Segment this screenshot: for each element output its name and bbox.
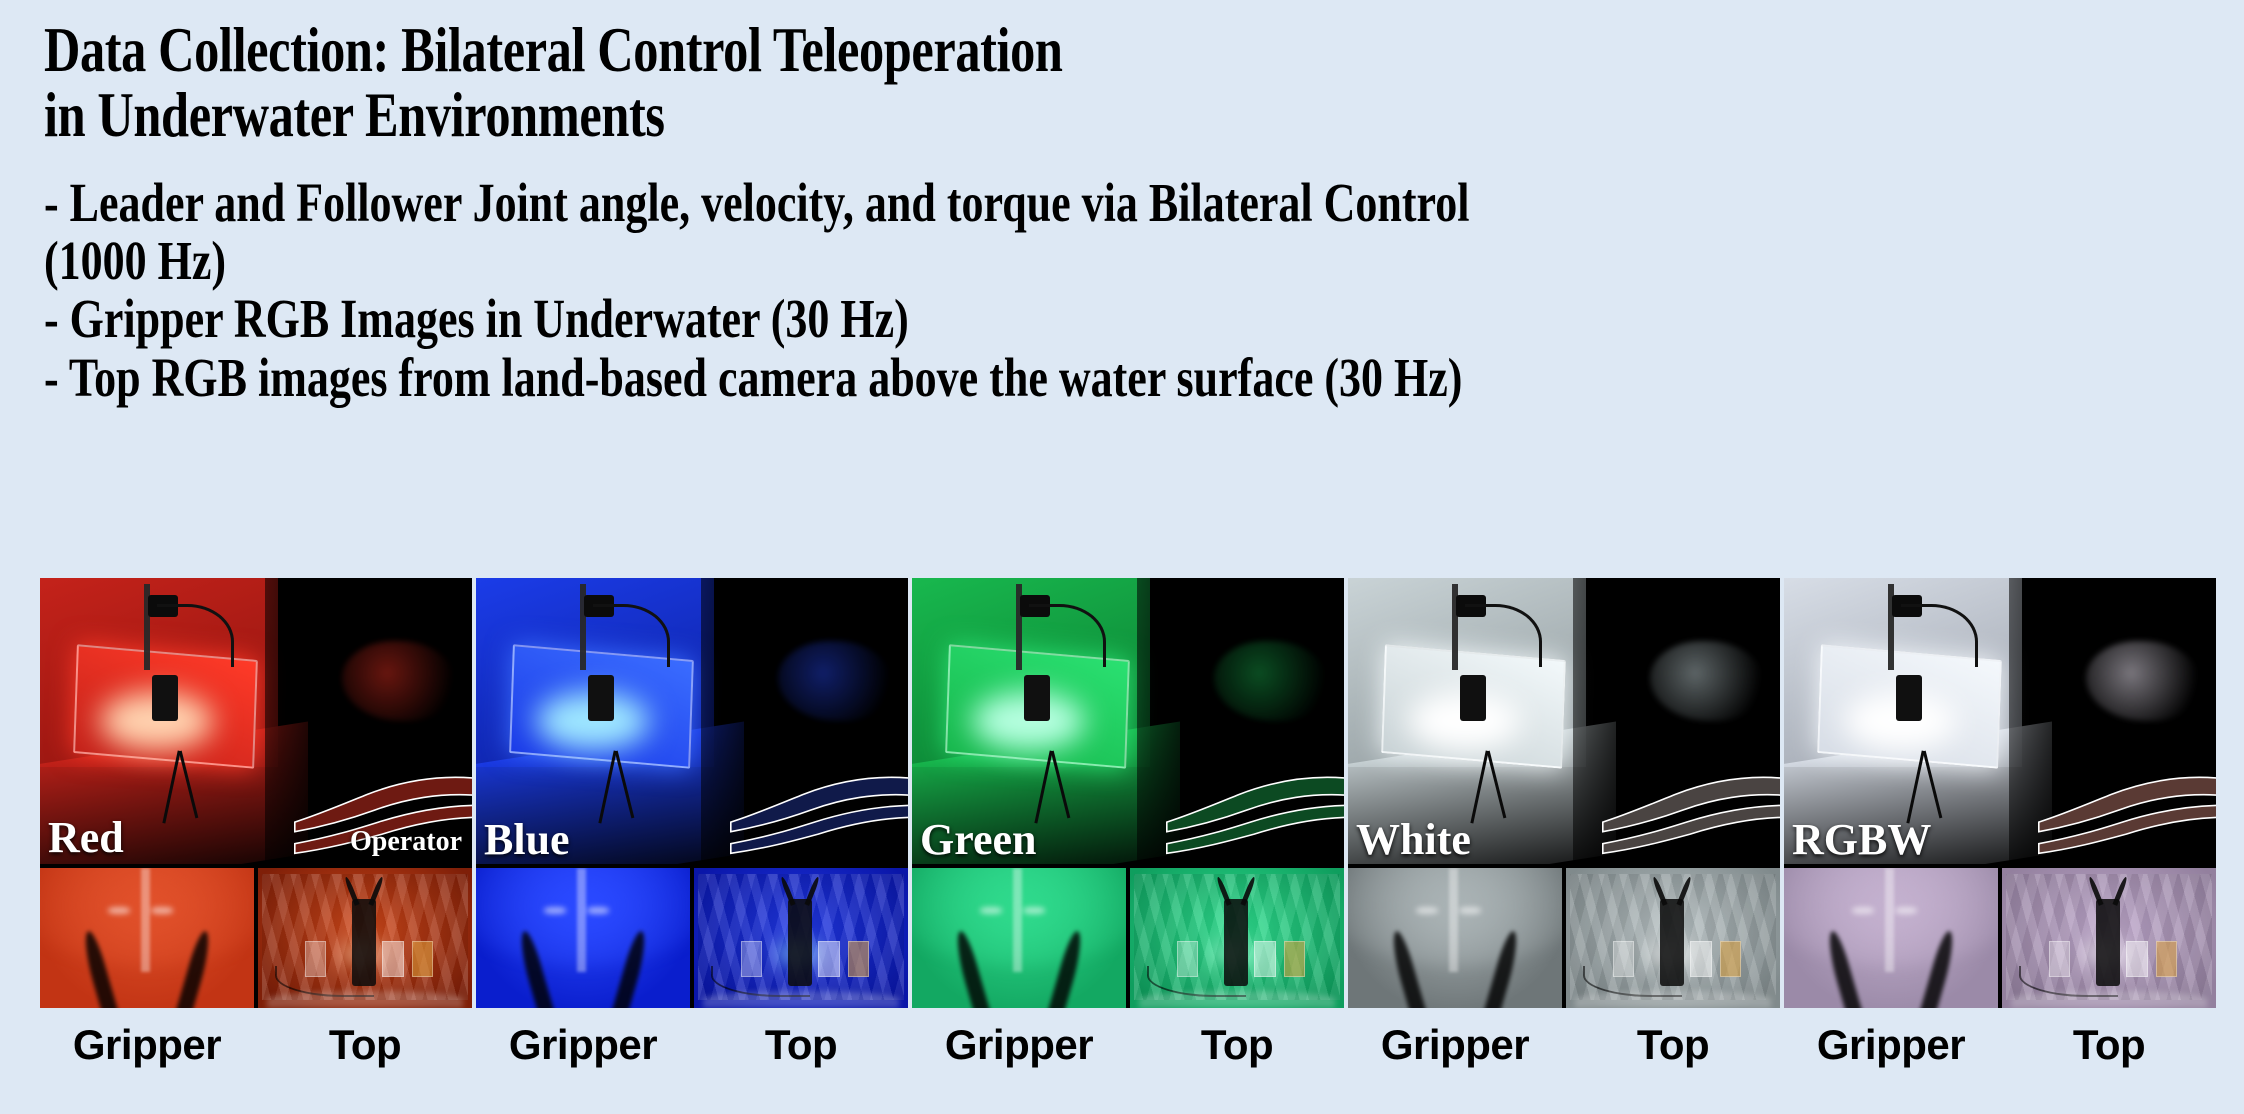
caption-gripper: Gripper — [1348, 1012, 1562, 1082]
caption-group-green: GripperTop — [912, 1012, 1344, 1082]
light-reflection-2 — [1459, 907, 1480, 914]
lighting-panel-green: Green — [912, 578, 1344, 1008]
color-label-blue: Blue — [484, 818, 570, 862]
lighting-panel-blue: Blue — [476, 578, 908, 1008]
operator-hand-outline — [2035, 738, 2216, 858]
caption-gripper: Gripper — [912, 1012, 1126, 1082]
environment-image-blue: Blue — [476, 578, 908, 864]
caption-gripper: Gripper — [40, 1012, 254, 1082]
bullet-item-2: - Gripper RGB Images in Underwater (30 H… — [44, 290, 2220, 348]
top-view-white — [1566, 868, 1780, 1008]
light-reflection-1 — [980, 907, 1001, 914]
caption-top: Top — [1130, 1012, 1344, 1082]
caption-group-red: GripperTop — [40, 1012, 472, 1082]
lighting-condition-panel-grid: Red Operator — [40, 578, 2216, 1008]
slide-root: Data Collection: Bilateral Control Teleo… — [0, 0, 2244, 1114]
bullet-list: - Leader and Follower Joint angle, veloc… — [44, 174, 2220, 407]
gripper-view-green — [912, 868, 1126, 1008]
sub-image-pair-white — [1348, 864, 1780, 1008]
sub-image-pair-red — [40, 864, 472, 1008]
caption-group-white: GripperTop — [1348, 1012, 1780, 1082]
gripper-rod — [1885, 868, 1894, 972]
lighting-panel-rgbw: RGBW — [1784, 578, 2216, 1008]
gripper-view-red — [40, 868, 254, 1008]
target-object-2 — [2126, 941, 2147, 977]
environment-image-red: Red Operator — [40, 578, 472, 864]
tank-floor — [2011, 991, 2208, 1008]
gripper-rod — [577, 868, 586, 972]
color-label-white: White — [1356, 818, 1471, 862]
title-line-1: Data Collection: Bilateral Control Teleo… — [44, 18, 2204, 83]
tank-floor — [267, 991, 464, 1008]
target-object-3 — [2156, 941, 2177, 977]
caption-top: Top — [694, 1012, 908, 1082]
target-object-3 — [1284, 941, 1305, 977]
light-reflection-2 — [1895, 907, 1916, 914]
target-object-2 — [1690, 941, 1711, 977]
operator-annotation: Operator — [350, 828, 462, 856]
target-object-2 — [382, 941, 403, 977]
sub-image-pair-green — [912, 864, 1344, 1008]
light-reflection-2 — [151, 907, 172, 914]
environment-image-rgbw: RGBW — [1784, 578, 2216, 864]
target-object-3 — [1720, 941, 1741, 977]
robot-arm — [588, 675, 614, 721]
caption-gripper: Gripper — [1784, 1012, 1998, 1082]
light-reflection-1 — [1416, 907, 1437, 914]
target-object-2 — [1254, 941, 1275, 977]
environment-image-white: White — [1348, 578, 1780, 864]
gripper-rod — [1449, 868, 1458, 972]
bullet-item-3: - Top RGB images from land-based camera … — [44, 349, 2220, 407]
top-view-blue — [694, 868, 908, 1008]
tank-floor — [1139, 991, 1336, 1008]
light-reflection-2 — [1023, 907, 1044, 914]
light-reflection-1 — [544, 907, 565, 914]
caption-top: Top — [258, 1012, 472, 1082]
robot-arm — [1024, 675, 1050, 721]
robot-arm — [1896, 675, 1922, 721]
operator-hand-outline — [727, 738, 908, 858]
gripper-view-white — [1348, 868, 1562, 1008]
text-block: Data Collection: Bilateral Control Teleo… — [44, 18, 2224, 407]
lighting-panel-red: Red Operator — [40, 578, 472, 1008]
robot-arm — [1460, 675, 1486, 721]
light-reflection-1 — [1852, 907, 1873, 914]
color-label-rgbw: RGBW — [1792, 818, 1931, 862]
light-reflection-2 — [587, 907, 608, 914]
caption-top: Top — [2002, 1012, 2216, 1082]
sub-caption-row: GripperTopGripperTopGripperTopGripperTop… — [40, 1012, 2216, 1082]
caption-gripper: Gripper — [476, 1012, 690, 1082]
gripper-rod — [1013, 868, 1022, 972]
title-line-2: in Underwater Environments — [44, 83, 2204, 148]
sub-image-pair-blue — [476, 864, 908, 1008]
gripper-view-rgbw — [1784, 868, 1998, 1008]
target-object-3 — [412, 941, 433, 977]
light-reflection-1 — [108, 907, 129, 914]
caption-top: Top — [1566, 1012, 1780, 1082]
lighting-panel-white: White — [1348, 578, 1780, 1008]
gripper-rod — [141, 868, 150, 972]
tank-floor — [703, 991, 900, 1008]
robot-arm — [152, 675, 178, 721]
target-object-2 — [818, 941, 839, 977]
top-view-red — [258, 868, 472, 1008]
page-title: Data Collection: Bilateral Control Teleo… — [44, 18, 2204, 148]
caption-group-rgbw: GripperTop — [1784, 1012, 2216, 1082]
top-view-rgbw — [2002, 868, 2216, 1008]
top-view-green — [1130, 868, 1344, 1008]
gripper-view-blue — [476, 868, 690, 1008]
bullet-item-1: - Leader and Follower Joint angle, veloc… — [44, 174, 2220, 232]
sub-image-pair-rgbw — [1784, 864, 2216, 1008]
bullet-item-1-cont: (1000 Hz) — [44, 232, 2220, 290]
color-label-green: Green — [920, 818, 1037, 862]
tank-floor — [1575, 991, 1772, 1008]
target-object-3 — [848, 941, 869, 977]
operator-hand-outline — [1163, 738, 1344, 858]
environment-image-green: Green — [912, 578, 1344, 864]
caption-group-blue: GripperTop — [476, 1012, 908, 1082]
color-label-red: Red — [48, 816, 124, 860]
operator-hand-outline — [1599, 738, 1780, 858]
